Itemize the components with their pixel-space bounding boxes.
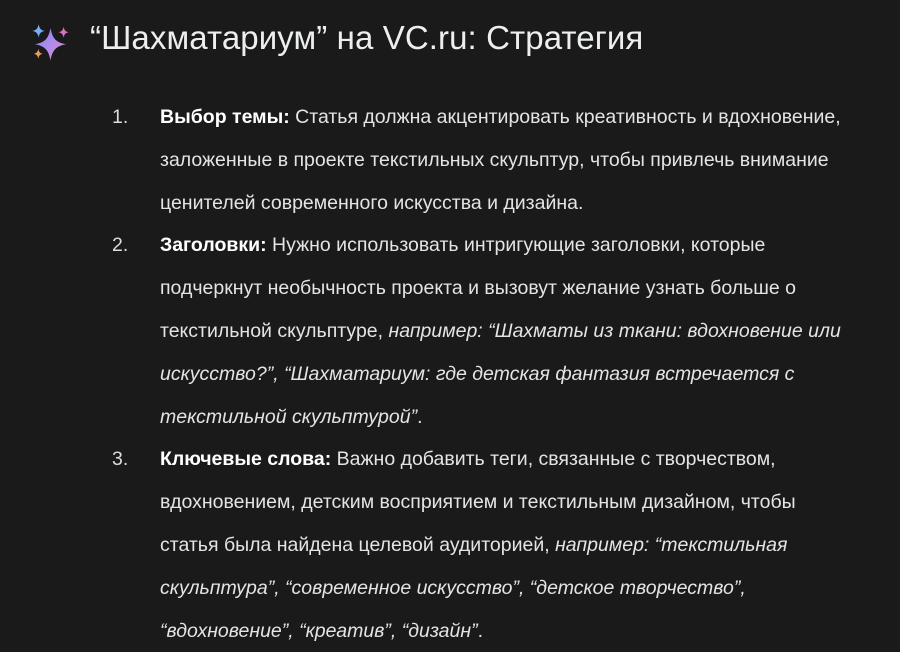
list-item-marker: 2.: [112, 224, 140, 267]
list-item: 2. Заголовки: Нужно использовать интригу…: [0, 224, 900, 438]
list-item-lead: Выбор темы:: [160, 106, 290, 128]
answer-header: “Шахматариум” на VC.ru: Стратегия: [0, 0, 900, 69]
sparkle-small-blue-star: [32, 24, 45, 37]
list-item-lead: Ключевые слова:: [160, 448, 331, 470]
list-item-body: Ключевые слова: Важно добавить теги, свя…: [160, 438, 856, 652]
sparkle-small-pink-star: [58, 27, 68, 38]
list-item: 1. Выбор темы: Статья должна акцентирова…: [0, 96, 900, 224]
list-item: 3. Ключевые слова: Важно добавить теги, …: [0, 438, 900, 652]
list-item-tail: .: [417, 406, 422, 428]
list-item-body: Заголовки: Нужно использовать интригующи…: [160, 224, 856, 438]
list-item-marker: 1.: [112, 96, 140, 139]
page-title: “Шахматариум” на VC.ru: Стратегия: [90, 16, 643, 60]
list-item-lead: Заголовки:: [160, 234, 267, 256]
sparkle-icon: [26, 19, 76, 69]
list-item-tail: .: [478, 620, 483, 642]
answer-panel: “Шахматариум” на VC.ru: Стратегия 1. Выб…: [0, 0, 900, 600]
list-item-body: Выбор темы: Статья должна акцентировать …: [160, 96, 856, 224]
sparkle-small-orange-star: [34, 49, 43, 59]
list-item-marker: 3.: [112, 438, 140, 481]
strategy-list: 1. Выбор темы: Статья должна акцентирова…: [0, 96, 900, 652]
